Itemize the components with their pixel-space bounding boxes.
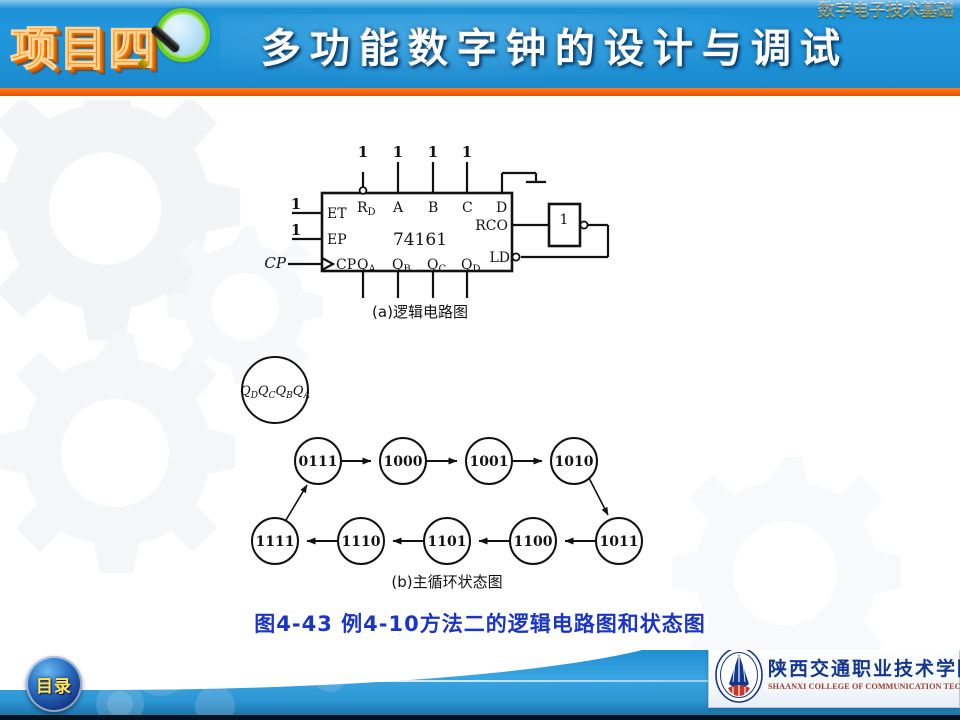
- pin-label-ep: EP: [327, 232, 347, 248]
- inverter-label: 1: [560, 212, 569, 228]
- school-emblem-icon: [713, 650, 765, 704]
- state-label-1111: 1111: [256, 534, 295, 550]
- chip-label: 74161: [393, 230, 447, 250]
- course-name: 数字电子技术基础: [818, 0, 954, 22]
- pin-label-d: D: [496, 200, 507, 216]
- figure-b-caption: (b)主循环状态图: [391, 573, 502, 591]
- state-label-1000: 1000: [384, 454, 423, 470]
- slide-body: 1 1 1 1 RD A B C D 1 1 CP: [0, 100, 960, 652]
- magnifier-tip: [137, 58, 149, 70]
- slide-header: 项目四 多功能数字钟的设计与调试 数字电子技术基础 数字电子技术基础: [0, 0, 960, 96]
- state-label-1010: 1010: [555, 454, 594, 470]
- figure-svg: 1 1 1 1 RD A B C D 1 1 CP: [0, 100, 960, 652]
- pin-label-a: A: [392, 200, 404, 216]
- school-logo: 陕西交通职业技术学院 SHAANXI COLLEGE OF COMMUNICAT…: [708, 650, 960, 708]
- inverter-output-bubble: [580, 221, 587, 228]
- logic-circuit-diagram: [288, 162, 608, 298]
- page-title: 多功能数字钟的设计与调试: [225, 18, 885, 80]
- toc-button-label: 目录: [36, 672, 72, 697]
- state-label-1011: 1011: [600, 534, 639, 550]
- transition-1010-1011: [589, 478, 608, 515]
- top-input-value-b: 1: [428, 143, 438, 161]
- magnifier-icon: [138, 6, 212, 80]
- footer-bottom-line: [0, 715, 960, 720]
- rd-inversion-bubble: [360, 187, 367, 194]
- school-name-cn: 陕西交通职业技术学院: [768, 657, 960, 681]
- pin-label-c: C: [462, 200, 473, 216]
- state-legend-label: QDQCQBQA: [240, 384, 310, 401]
- school-name-block: 陕西交通职业技术学院 SHAANXI COLLEGE OF COMMUNICAT…: [765, 657, 960, 693]
- transition-1111-0111: [286, 485, 307, 520]
- slide-footer: 目录 陕西交通职业技术学院 SHAANXI COLLEGE OF COMMUNI…: [0, 650, 960, 720]
- circuit-labels: 1 1 1 1 RD A B C D 1 1 CP: [264, 143, 568, 321]
- pin-label-et: ET: [327, 206, 347, 222]
- figure-container: 1 1 1 1 RD A B C D 1 1 CP: [0, 100, 960, 652]
- ld-inversion-bubble: [512, 253, 519, 260]
- left-input-value-cp: CP: [264, 254, 286, 272]
- top-input-value-c: 1: [462, 143, 472, 161]
- top-input-value-a: 1: [393, 143, 403, 161]
- header-orange-rule: [0, 88, 960, 96]
- pin-label-cp: CP: [336, 257, 356, 273]
- pin-label-b: B: [428, 200, 438, 216]
- figure-a-caption: (a)逻辑电路图: [372, 303, 468, 321]
- school-name-en: SHAANXI COLLEGE OF COMMUNICATION TECHNOL…: [768, 681, 960, 693]
- top-input-value-rd: 1: [358, 143, 368, 161]
- state-label-1110: 1110: [342, 534, 381, 550]
- pin-label-rco: RCO: [475, 218, 508, 234]
- pin-label-ld: LD: [489, 250, 510, 266]
- state-label-0111: 0111: [299, 454, 338, 470]
- state-labels: 0111 1000 1001 1010 1011 1100 1101 1110 …: [256, 454, 639, 550]
- left-input-value-et: 1: [291, 195, 301, 213]
- state-label-1100: 1100: [514, 534, 553, 550]
- state-label-1001: 1001: [470, 454, 509, 470]
- slide-root: 项目四 多功能数字钟的设计与调试 数字电子技术基础 数字电子技术基础: [0, 0, 960, 720]
- left-input-value-ep: 1: [291, 221, 301, 239]
- slide-caption: 图4-43 例4-10方法二的逻辑电路图和状态图: [0, 608, 960, 638]
- toc-button[interactable]: 目录: [26, 656, 82, 712]
- state-label-1101: 1101: [428, 534, 467, 550]
- project-badge-label: 项目四: [10, 10, 157, 79]
